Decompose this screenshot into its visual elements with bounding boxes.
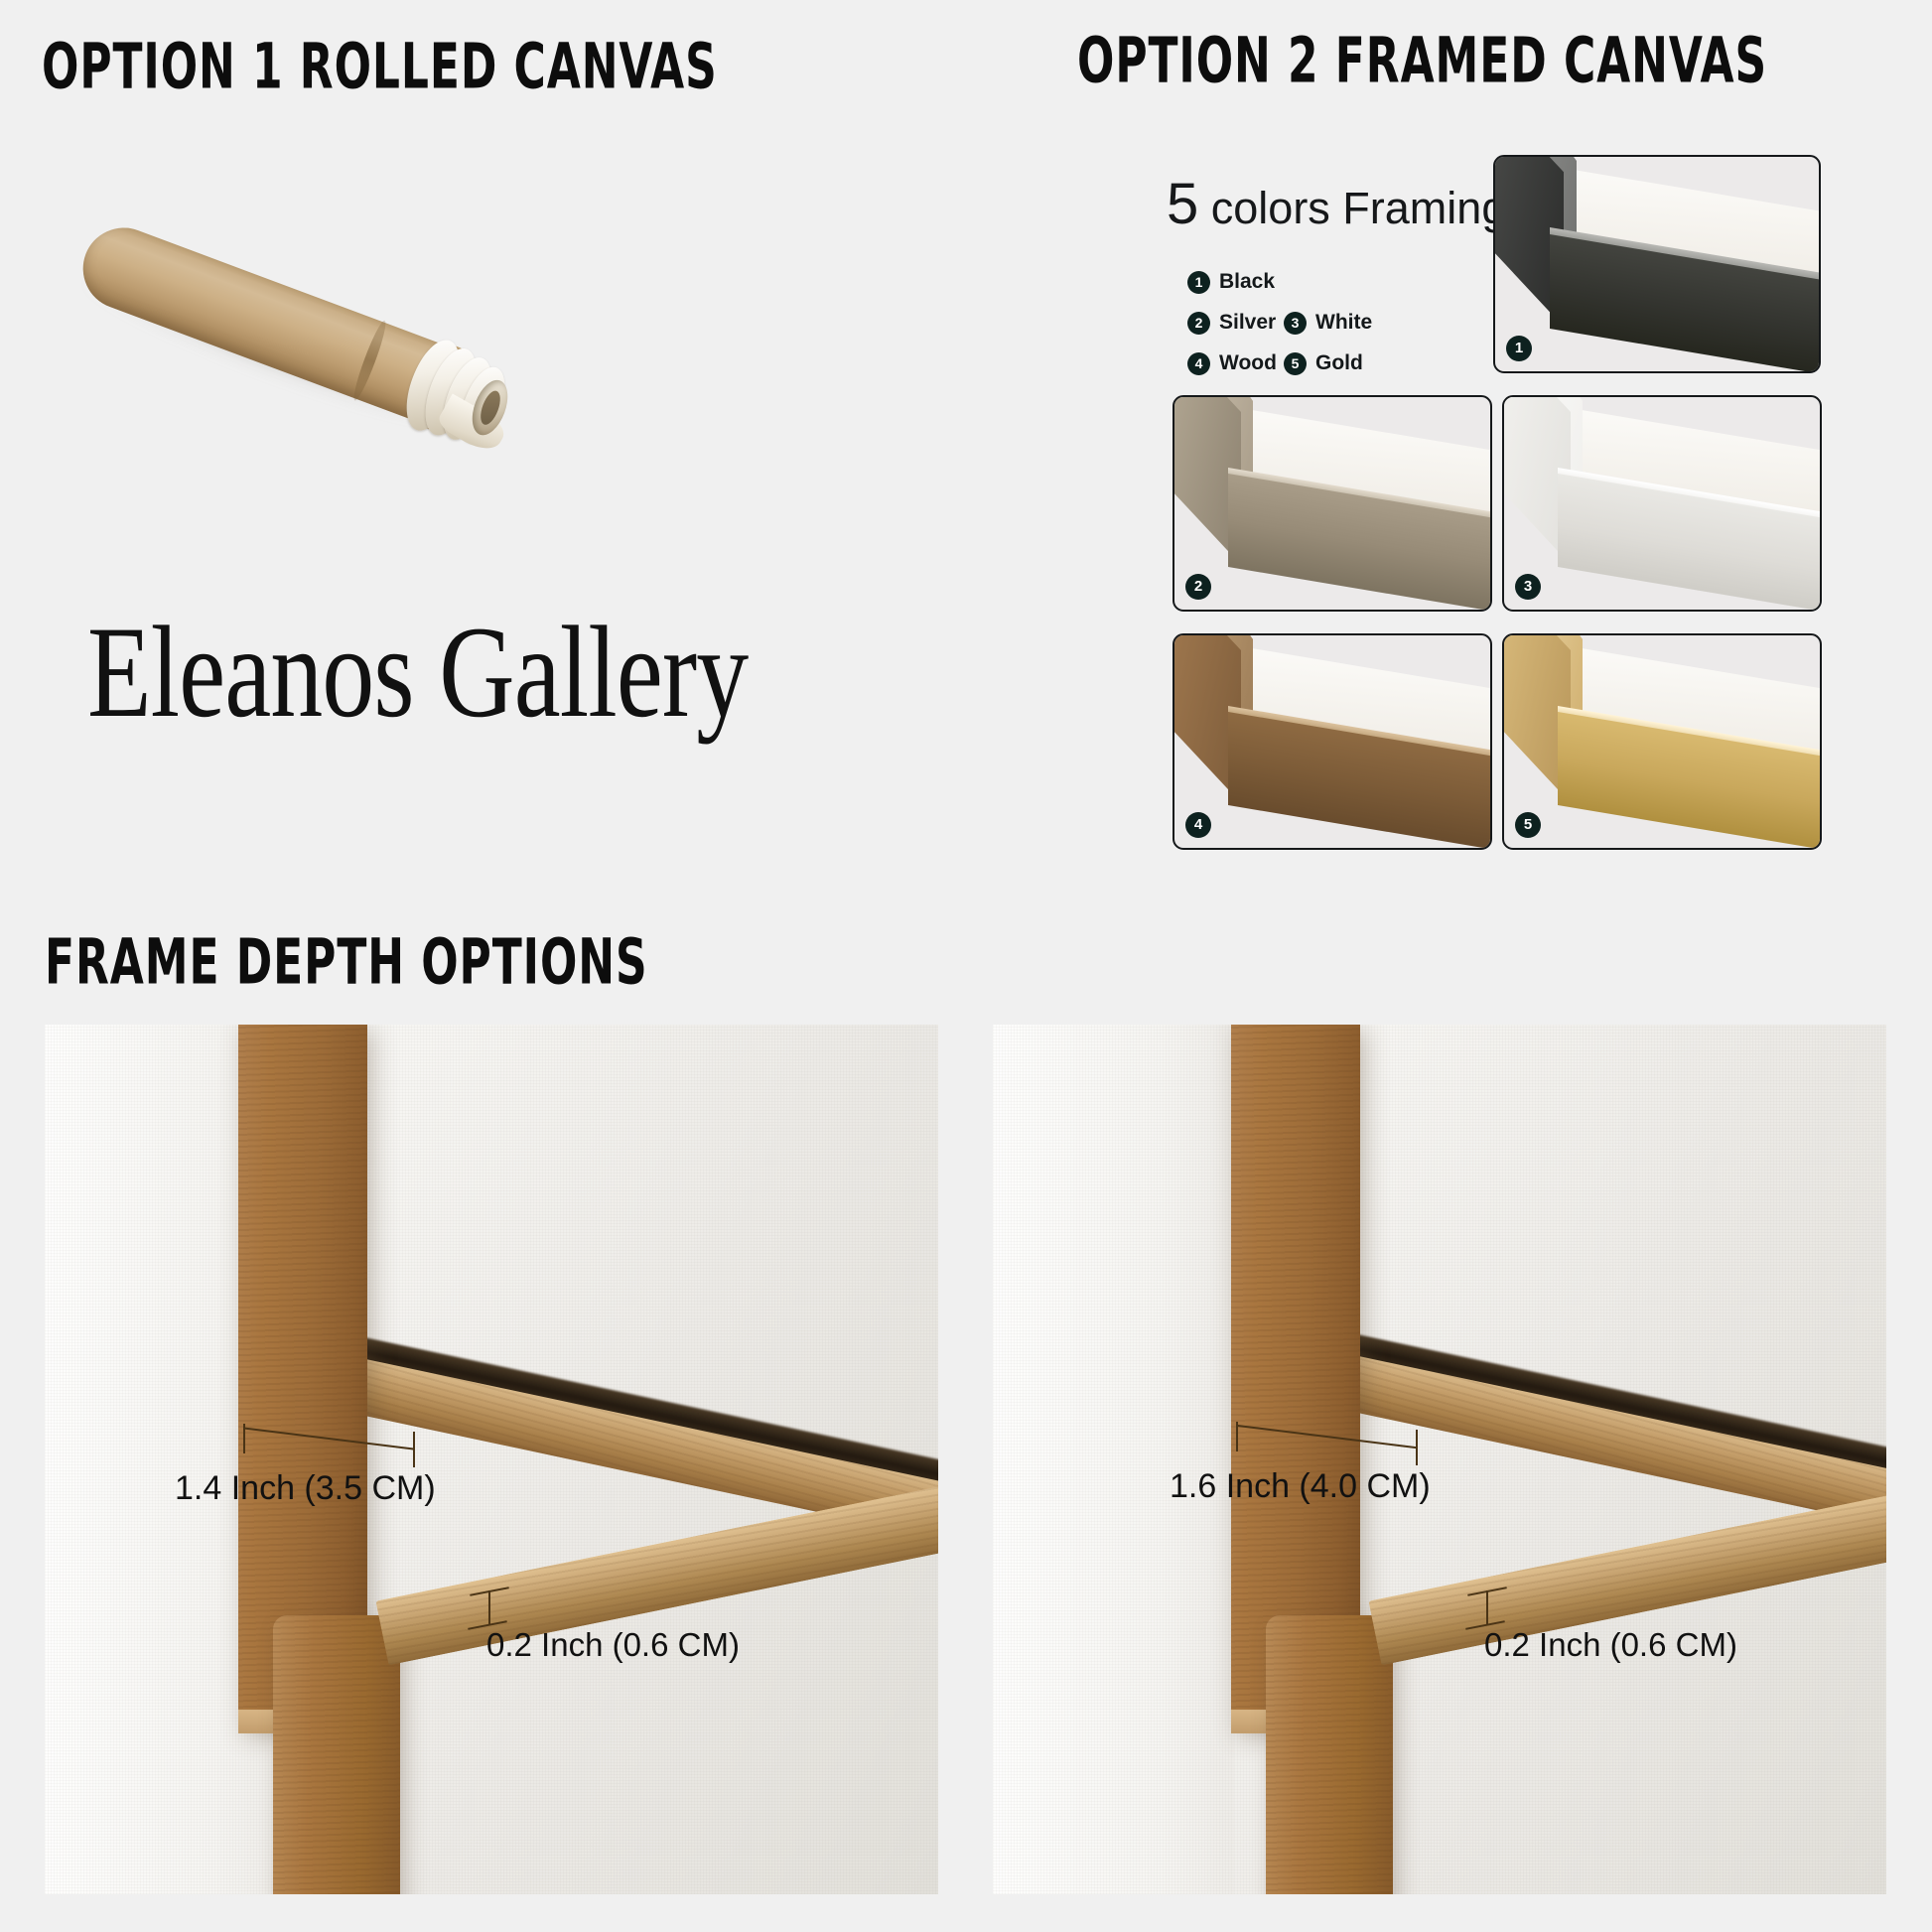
right-width-label: 1.6 Inch (4.0 CM): [1170, 1467, 1431, 1506]
legend-badge-5: 5: [1284, 352, 1307, 375]
dimension-tick-right: [413, 1432, 415, 1467]
gold-frame-corner-image: [1504, 635, 1820, 848]
thickness-stem: [1486, 1590, 1488, 1624]
frame-sample-tile-gold[interactable]: 5: [1502, 633, 1822, 850]
silver-frame-corner-image: [1174, 397, 1490, 610]
dimension-tick-left: [243, 1424, 245, 1453]
frame-sample-tile-wood[interactable]: 4: [1173, 633, 1492, 850]
frame-sample-tile-white[interactable]: 3: [1502, 395, 1822, 612]
left-thickness-label: 0.2 Inch (0.6 CM): [486, 1626, 740, 1664]
legend-item-gold: 5 Gold: [1284, 351, 1363, 375]
wood-frame-corner-image: [1174, 635, 1490, 848]
legend-label-white: White: [1315, 311, 1372, 335]
frame-sample-tile-silver[interactable]: 2: [1173, 395, 1492, 612]
legend-badge-3: 3: [1284, 312, 1307, 335]
framing-color-count: 5: [1167, 172, 1198, 236]
legend-item-wood: 4 Wood: [1187, 351, 1277, 375]
legend-label-wood: Wood: [1219, 351, 1277, 375]
heading-option-1: OPTION 1 ROLLED CANVAS: [42, 31, 718, 103]
lower-bar-leg: [273, 1615, 400, 1894]
legend-label-silver: Silver: [1219, 311, 1276, 335]
brand-wordmark: Eleanos Gallery: [87, 596, 748, 748]
tile-badge-1: 1: [1506, 336, 1532, 361]
legend-badge-1: 1: [1187, 271, 1210, 294]
frame-depth-photo-right: 1.6 Inch (4.0 CM) 0.2 Inch (0.6 CM): [993, 1025, 1886, 1894]
framing-title-rest: colors Framing: [1198, 183, 1506, 233]
legend-item-silver: 2 Silver: [1187, 311, 1276, 335]
legend-item-white: 3 White: [1284, 311, 1372, 335]
heading-option-2: OPTION 2 FRAMED CANVAS: [1077, 25, 1767, 97]
rolled-canvas-illustration: [79, 139, 546, 437]
heading-frame-depth: FRAME DEPTH OPTIONS: [45, 926, 648, 999]
tube-body: [71, 216, 446, 422]
legend-label-black: Black: [1219, 270, 1275, 294]
legend-badge-2: 2: [1187, 312, 1210, 335]
legend-label-gold: Gold: [1315, 351, 1363, 375]
white-frame-corner-image: [1504, 397, 1820, 610]
legend-badge-4: 4: [1187, 352, 1210, 375]
right-thickness-label: 0.2 Inch (0.6 CM): [1484, 1626, 1737, 1664]
black-frame-corner-image: [1495, 157, 1819, 371]
frame-sample-tile-black[interactable]: 1: [1493, 155, 1821, 373]
tile-badge-2: 2: [1185, 574, 1211, 600]
tile-badge-3: 3: [1515, 574, 1541, 600]
thickness-stem: [488, 1590, 490, 1624]
tile-badge-5: 5: [1515, 812, 1541, 838]
lower-bar-leg: [1266, 1615, 1393, 1894]
dimension-tick-left: [1236, 1422, 1238, 1451]
legend-item-black: 1 Black: [1187, 270, 1275, 294]
tile-badge-4: 4: [1185, 812, 1211, 838]
frame-depth-photo-left: 1.4 Inch (3.5 CM) 0.2 Inch (0.6 CM): [45, 1025, 938, 1894]
canvas-tube-icon: [47, 183, 531, 516]
framing-colors-title: 5 colors Framing: [1167, 171, 1506, 237]
infographic-page: OPTION 1 ROLLED CANVAS Eleanos Gallery O…: [0, 0, 1932, 1932]
left-width-label: 1.4 Inch (3.5 CM): [175, 1469, 436, 1508]
dimension-tick-right: [1416, 1430, 1418, 1465]
